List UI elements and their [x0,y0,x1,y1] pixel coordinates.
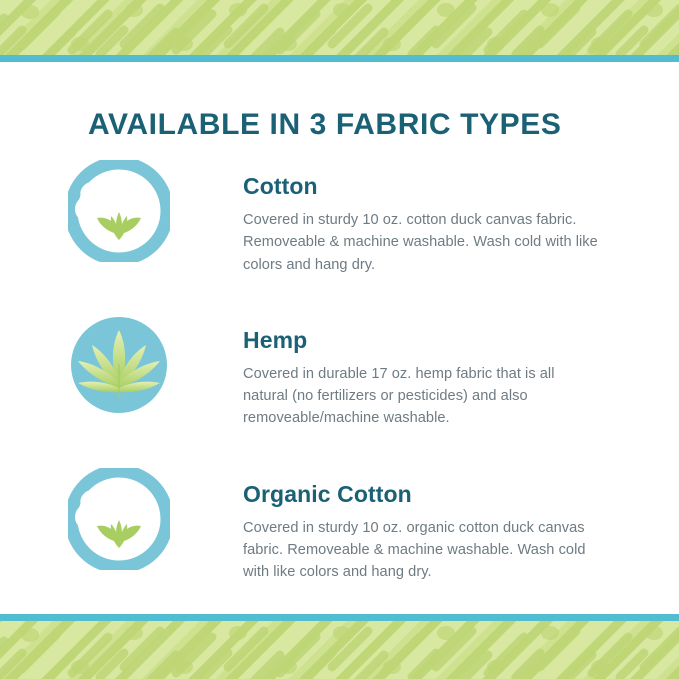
fabric-description-cotton: Covered in sturdy 10 oz. cotton duck can… [243,209,603,276]
top-teal-rule [0,55,679,62]
fabric-type-list: Cotton Covered in sturdy 10 oz. cotton d… [0,160,679,621]
fabric-item-organic-cotton: Organic Cotton Covered in sturdy 10 oz. … [0,468,679,584]
cotton-text-block: Cotton Covered in sturdy 10 oz. cotton d… [243,160,603,276]
fabric-heading-hemp: Hemp [243,328,603,353]
organic-cotton-text-block: Organic Cotton Covered in sturdy 10 oz. … [243,468,603,584]
fabric-heading-organic-cotton: Organic Cotton [243,482,603,507]
hemp-leaf-icon [68,314,170,416]
top-band-stripe-pattern [0,0,679,56]
bottom-decorative-band [0,612,679,679]
page-title: AVAILABLE IN 3 FABRIC TYPES [88,108,608,141]
fabric-heading-cotton: Cotton [243,174,603,199]
hemp-text-block: Hemp Covered in durable 17 oz. hemp fabr… [243,314,603,430]
fabric-description-organic-cotton: Covered in sturdy 10 oz. organic cotton … [243,517,603,584]
fabric-description-hemp: Covered in durable 17 oz. hemp fabric th… [243,363,603,430]
bottom-band-stripe-pattern [0,621,679,679]
cotton-boll-icon [68,468,170,570]
infographic-page: AVAILABLE IN 3 FABRIC TYPES Cotton Cover… [0,0,679,679]
fabric-item-cotton: Cotton Covered in sturdy 10 oz. cotton d… [0,160,679,276]
bottom-teal-rule [0,614,679,621]
cotton-boll-icon [68,160,170,262]
top-decorative-band [0,0,679,62]
fabric-item-hemp: Hemp Covered in durable 17 oz. hemp fabr… [0,314,679,430]
